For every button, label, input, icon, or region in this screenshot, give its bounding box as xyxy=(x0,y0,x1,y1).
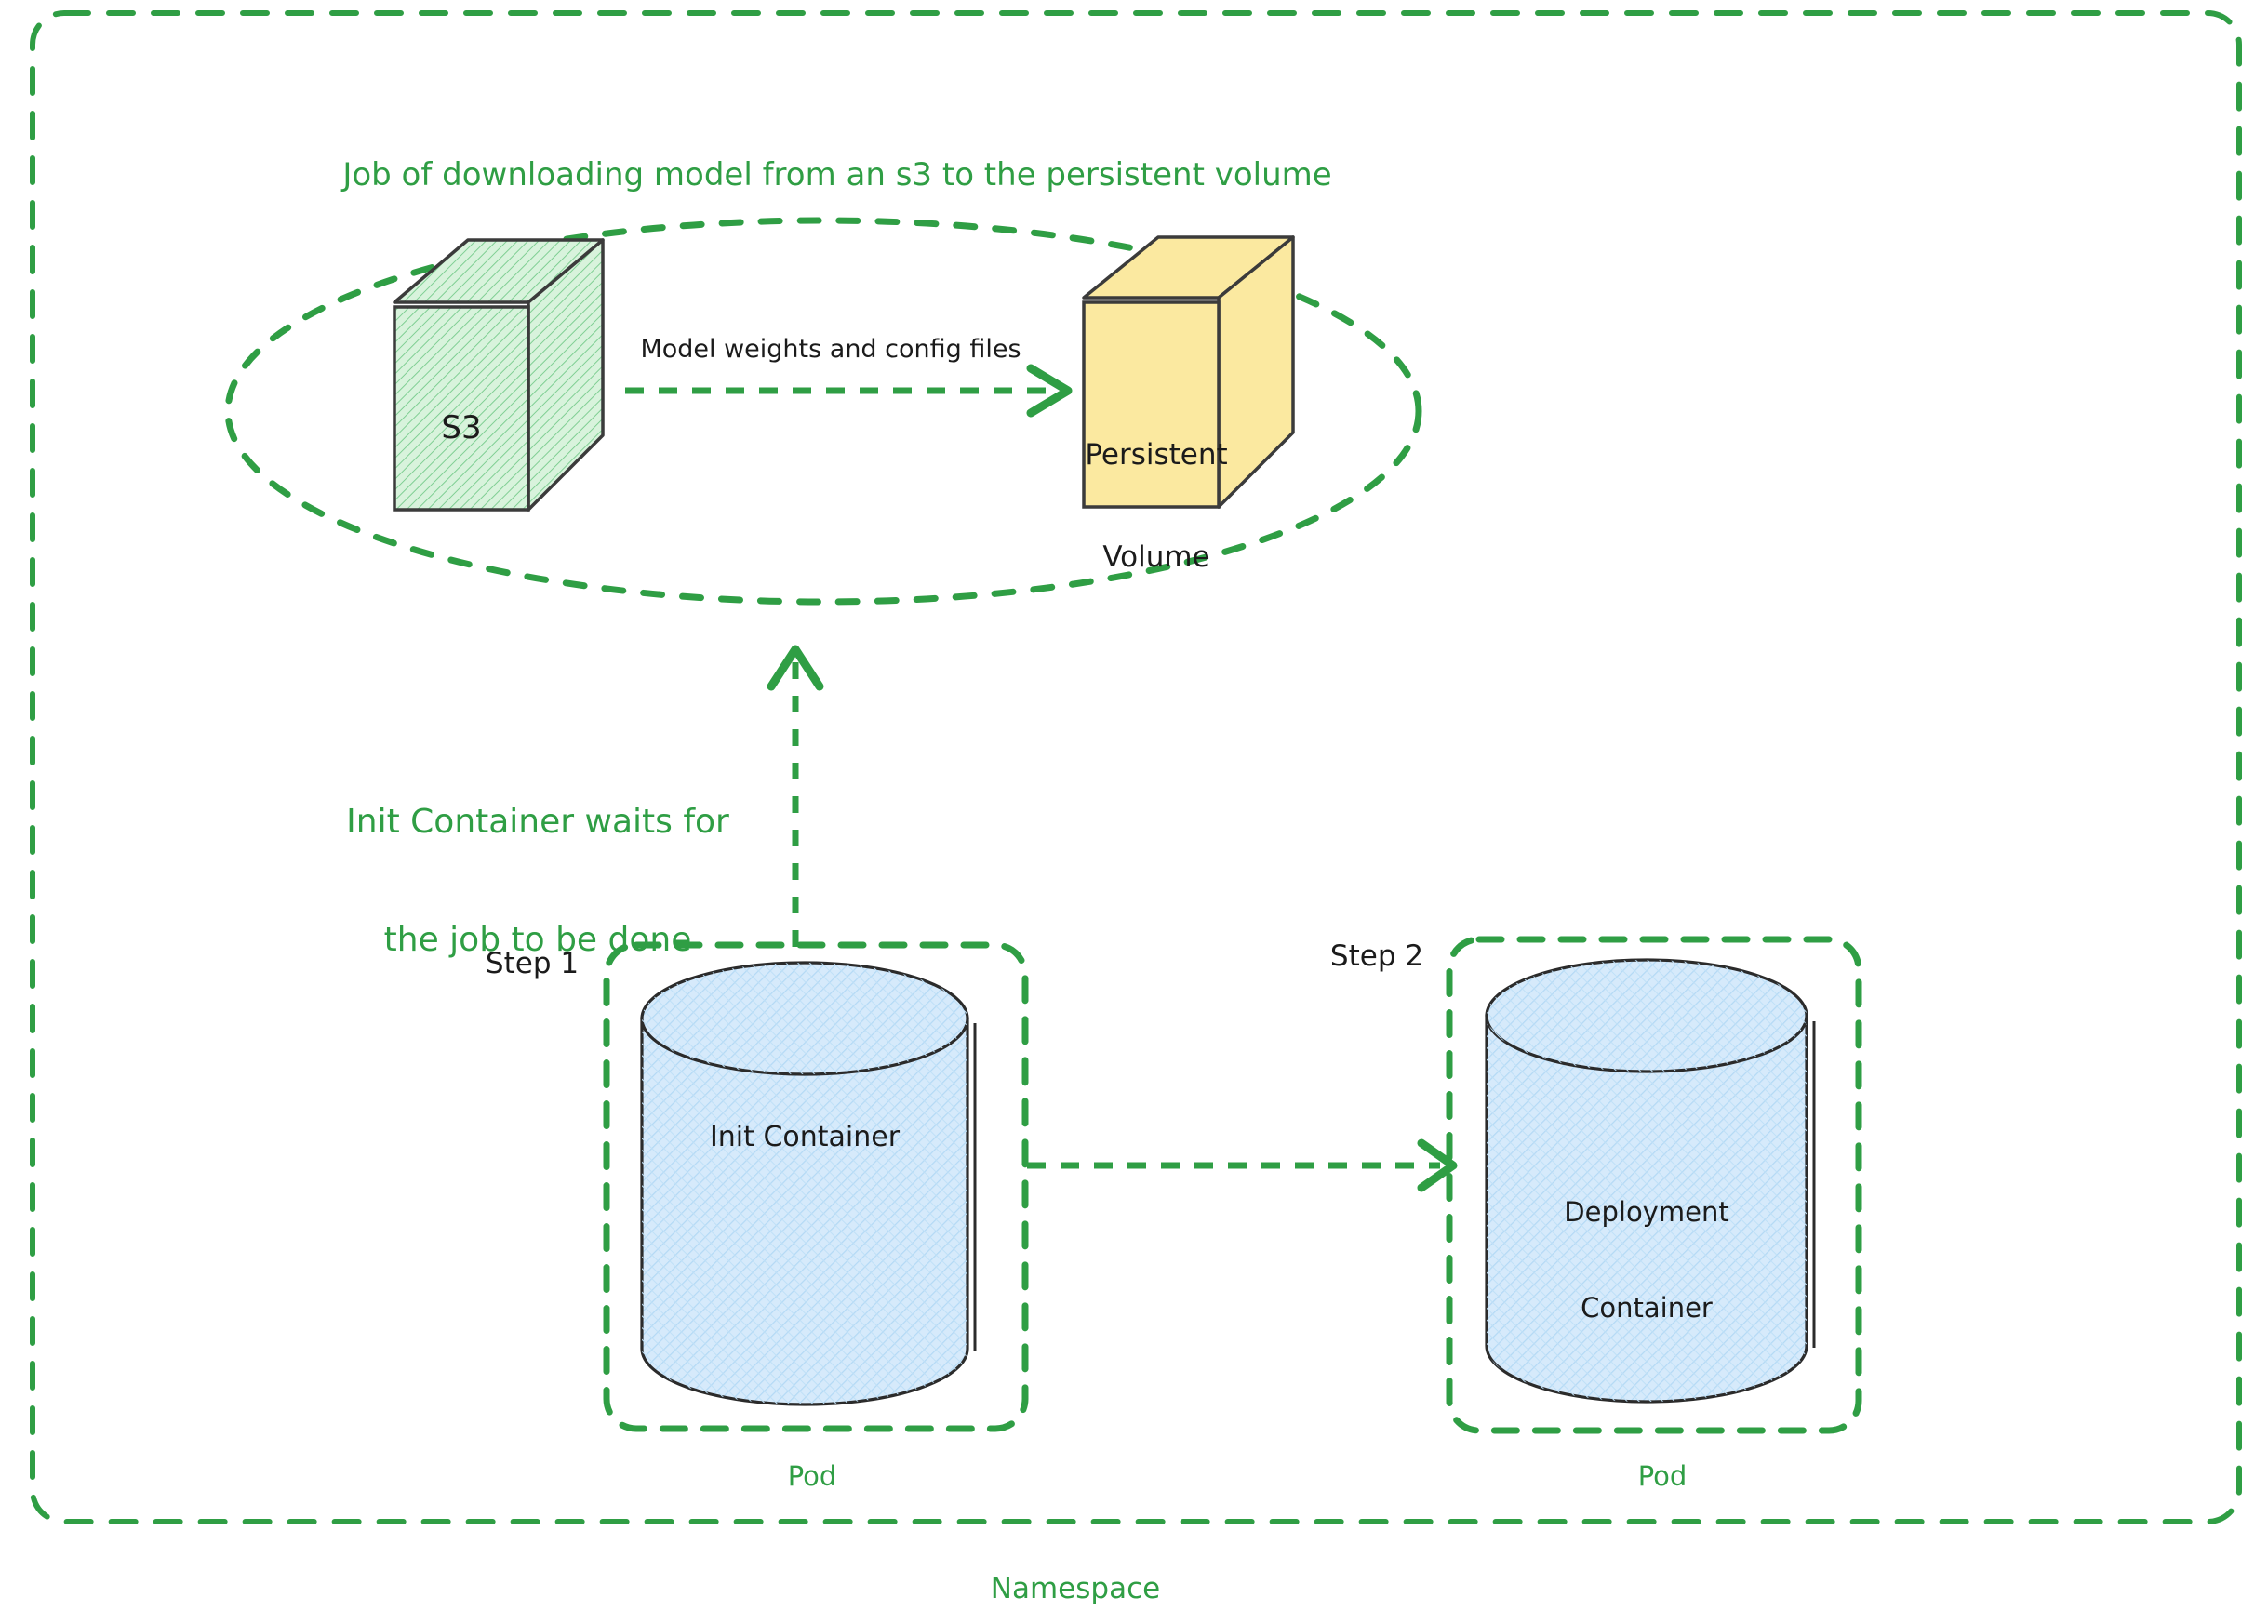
pod-to-pod-arrow xyxy=(1027,1143,1453,1188)
pod-1-label: Pod xyxy=(788,1460,837,1492)
s3-cube xyxy=(394,240,603,510)
deployment-container-label: Deployment Container xyxy=(1564,1133,1728,1388)
deployment-container-label-line1: Deployment xyxy=(1564,1196,1728,1228)
wait-label-line1: Init Container waits for xyxy=(346,803,729,842)
s3-label: S3 xyxy=(441,409,481,446)
model-weights-arrow xyxy=(625,368,1068,413)
init-container-wait-label: Init Container waits for the job to be d… xyxy=(346,724,729,1040)
persistent-volume-label-line1: Persistent xyxy=(1085,438,1227,473)
step-1-label: Step 1 xyxy=(486,947,579,981)
deployment-container-label-line2: Container xyxy=(1564,1292,1728,1324)
step-2-label: Step 2 xyxy=(1330,939,1423,974)
persistent-volume-label-line2: Volume xyxy=(1085,540,1227,575)
diagram-canvas: Job of downloading model from an s3 to t… xyxy=(0,0,2268,1624)
namespace-label: Namespace xyxy=(991,1572,1160,1606)
init-container-label: Init Container xyxy=(710,1121,900,1153)
init-container-wait-arrow xyxy=(771,649,820,947)
persistent-volume-label: Persistent Volume xyxy=(1085,370,1227,643)
pod-2-label: Pod xyxy=(1638,1460,1688,1492)
job-group-caption: Job of downloading model from an s3 to t… xyxy=(342,156,1331,193)
model-weights-edge-label: Model weights and config files xyxy=(640,335,1021,365)
diagram-svg xyxy=(0,0,2268,1624)
